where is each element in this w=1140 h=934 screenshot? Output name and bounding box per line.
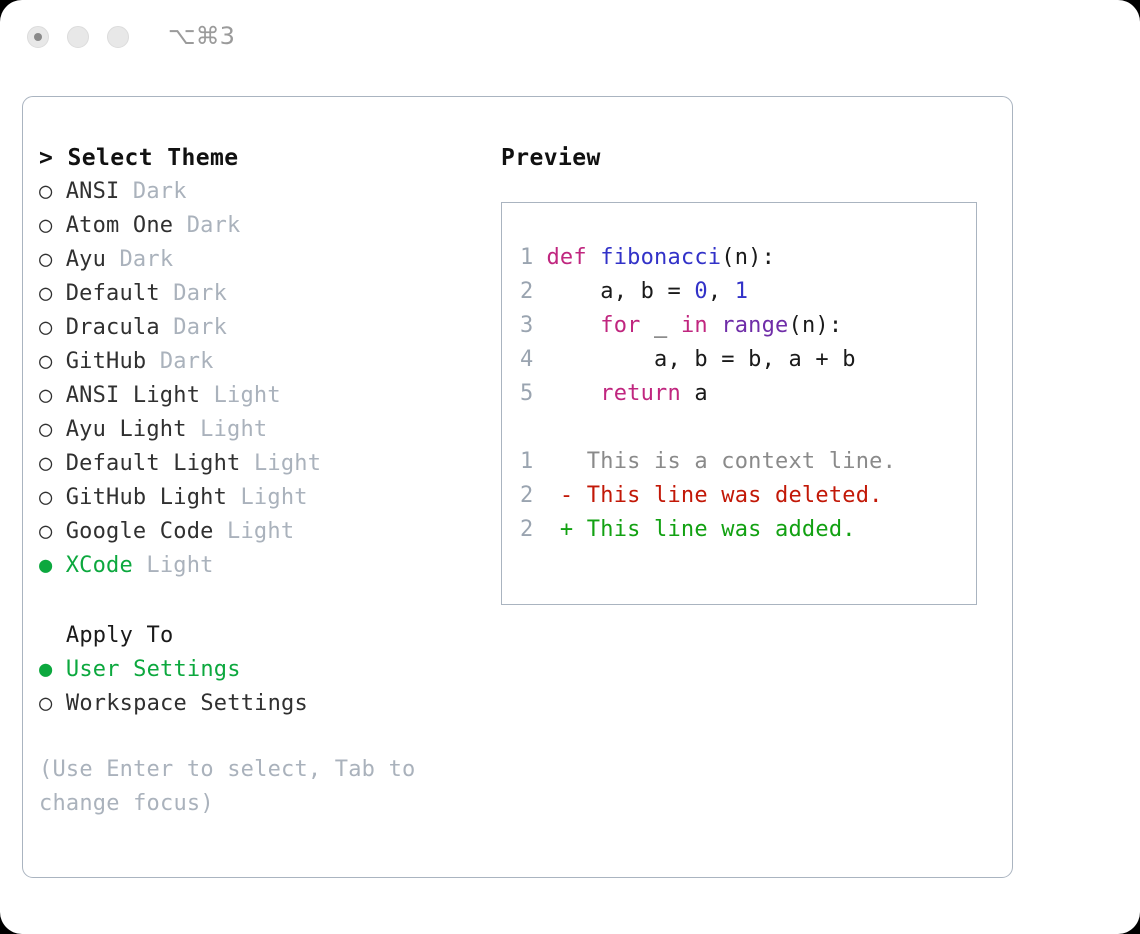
code-token <box>546 381 600 406</box>
line-number: 5 <box>520 377 533 411</box>
line-number: 4 <box>520 343 533 377</box>
theme-option[interactable]: ○ Default Light Light <box>39 447 479 481</box>
theme-name-label: ANSI <box>66 179 120 204</box>
radio-unselected-icon: ○ <box>39 243 52 277</box>
radio-unselected-icon: ○ <box>39 691 52 716</box>
theme-name-label: Default Light <box>66 451 241 476</box>
code-preview-area: 1def fibonacci(n):2 a, b = 0, 13 for _ i… <box>520 241 968 547</box>
title-bar: ⌥⌘3 <box>0 0 1140 78</box>
apply-to-list[interactable]: ● User Settings○ Workspace Settings <box>39 653 479 721</box>
code-token: a, b = b, a + b <box>546 347 855 372</box>
radio-selected-icon: ● <box>39 549 52 583</box>
code-token: def <box>546 245 600 270</box>
diff-line: 1 This is a context line. <box>520 445 968 479</box>
diff-line: 2 + This line was added. <box>520 513 968 547</box>
radio-unselected-icon: ○ <box>39 379 52 413</box>
close-button[interactable] <box>27 26 49 48</box>
theme-name-label: ANSI Light <box>66 383 200 408</box>
theme-option[interactable]: ○ Dracula Dark <box>39 311 479 345</box>
preview-heading: Preview <box>501 141 1001 175</box>
code-token: (n): <box>721 245 775 270</box>
code-token: fibonacci <box>600 245 721 270</box>
radio-unselected-icon: ○ <box>39 413 52 447</box>
apply-to-title: Apply To <box>39 619 479 653</box>
radio-unselected-icon: ○ <box>39 481 52 515</box>
close-dot-icon <box>34 33 42 41</box>
line-number: 2 <box>520 275 533 309</box>
keyboard-shortcut-label: ⌥⌘3 <box>168 22 235 50</box>
theme-name-label: Atom One <box>66 213 174 238</box>
theme-kind-label: Light <box>214 383 281 408</box>
keyboard-hint-text: (Use Enter to select, Tab to change focu… <box>39 753 459 821</box>
code-blank-line <box>520 411 968 445</box>
line-number: 2 <box>520 479 533 513</box>
theme-kind-label: Dark <box>160 349 214 374</box>
line-number: 1 <box>520 241 533 275</box>
radio-unselected-icon: ○ <box>39 515 52 549</box>
code-token: , <box>708 279 735 304</box>
apply-to-label: User Settings <box>66 657 241 682</box>
theme-option[interactable]: ○ Google Code Light <box>39 515 479 549</box>
theme-option[interactable]: ○ Default Dark <box>39 277 479 311</box>
theme-option[interactable]: ● XCode Light <box>39 549 479 583</box>
theme-kind-label: Dark <box>119 247 173 272</box>
select-theme-title: > Select Theme <box>39 141 479 175</box>
diff-line: 2 - This line was deleted. <box>520 479 968 513</box>
line-number: 1 <box>520 445 533 479</box>
theme-kind-label: Light <box>240 485 307 510</box>
theme-kind-label: Light <box>254 451 321 476</box>
apply-to-option[interactable]: ● User Settings <box>39 653 479 687</box>
line-number: 2 <box>520 513 533 547</box>
theme-kind-label: Dark <box>133 179 187 204</box>
theme-name-label: GitHub Light <box>66 485 227 510</box>
section-spacer <box>39 583 479 619</box>
diff-text: This is a context line. <box>546 449 896 474</box>
code-token <box>546 313 600 338</box>
minimize-button[interactable] <box>67 26 89 48</box>
code-line: 4 a, b = b, a + b <box>520 343 968 377</box>
diff-text: + This line was added. <box>546 517 855 542</box>
radio-unselected-icon: ○ <box>39 277 52 311</box>
radio-unselected-icon: ○ <box>39 311 52 345</box>
app-window: ⌥⌘3 > Select Theme ○ ANSI Dark○ Atom One… <box>0 0 1140 934</box>
theme-name-label: Default <box>66 281 160 306</box>
theme-option[interactable]: ○ ANSI Light Light <box>39 379 479 413</box>
theme-selector-column: > Select Theme ○ ANSI Dark○ Atom One Dar… <box>39 141 479 821</box>
code-line: 5 return a <box>520 377 968 411</box>
theme-kind-label: Dark <box>187 213 241 238</box>
theme-option[interactable]: ○ ANSI Dark <box>39 175 479 209</box>
theme-option[interactable]: ○ Ayu Light Light <box>39 413 479 447</box>
theme-name-label: XCode <box>66 553 133 578</box>
apply-to-label: Workspace Settings <box>66 691 308 716</box>
theme-name-label: Ayu <box>66 247 106 272</box>
maximize-button[interactable] <box>107 26 129 48</box>
theme-kind-label: Light <box>146 553 213 578</box>
code-token: in <box>681 313 708 338</box>
code-token: a <box>681 381 708 406</box>
theme-kind-label: Light <box>200 417 267 442</box>
theme-name-label: Google Code <box>66 519 214 544</box>
apply-to-option[interactable]: ○ Workspace Settings <box>39 687 479 721</box>
radio-unselected-icon: ○ <box>39 345 52 379</box>
radio-unselected-icon: ○ <box>39 209 52 243</box>
traffic-light-group <box>27 26 129 48</box>
code-token: 0 <box>694 279 707 304</box>
theme-option[interactable]: ○ GitHub Light Light <box>39 481 479 515</box>
theme-kind-label: Dark <box>173 281 227 306</box>
code-line: 2 a, b = 0, 1 <box>520 275 968 309</box>
code-token: 1 <box>735 279 748 304</box>
theme-list[interactable]: ○ ANSI Dark○ Atom One Dark○ Ayu Dark○ De… <box>39 175 479 583</box>
code-token: a, b = <box>546 279 694 304</box>
code-token: range <box>721 313 788 338</box>
theme-option[interactable]: ○ GitHub Dark <box>39 345 479 379</box>
theme-name-label: Ayu Light <box>66 417 187 442</box>
code-token: return <box>600 381 681 406</box>
code-token: (n): <box>789 313 843 338</box>
preview-box: 1def fibonacci(n):2 a, b = 0, 13 for _ i… <box>501 202 977 605</box>
theme-option[interactable]: ○ Atom One Dark <box>39 209 479 243</box>
radio-selected-icon: ● <box>39 657 52 682</box>
theme-name-label: GitHub <box>66 349 147 374</box>
code-line: 1def fibonacci(n): <box>520 241 968 275</box>
content-panel: > Select Theme ○ ANSI Dark○ Atom One Dar… <box>22 96 1013 878</box>
preview-column: Preview 1def fibonacci(n):2 a, b = 0, 13… <box>501 141 1001 605</box>
theme-kind-label: Light <box>227 519 294 544</box>
diff-text: - This line was deleted. <box>546 483 882 508</box>
radio-unselected-icon: ○ <box>39 447 52 481</box>
code-token: _ <box>641 313 681 338</box>
theme-option[interactable]: ○ Ayu Dark <box>39 243 479 277</box>
code-line: 3 for _ in range(n): <box>520 309 968 343</box>
radio-unselected-icon: ○ <box>39 175 52 209</box>
code-token: for <box>600 313 640 338</box>
theme-name-label: Dracula <box>66 315 160 340</box>
line-number: 3 <box>520 309 533 343</box>
theme-kind-label: Dark <box>173 315 227 340</box>
code-token <box>708 313 721 338</box>
